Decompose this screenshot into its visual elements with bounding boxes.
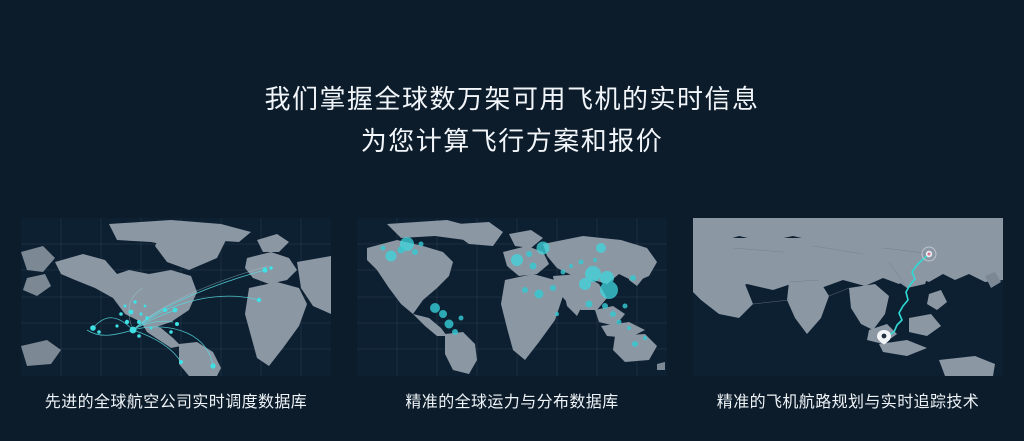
panel-caption: 先进的全球航空公司实时调度数据库 xyxy=(21,392,331,414)
panel-airline-schedule-db[interactable]: 先进的全球航空公司实时调度数据库 xyxy=(21,218,331,414)
panel-caption: 精准的全球运力与分布数据库 xyxy=(357,392,667,414)
track-map-svg xyxy=(693,218,1003,376)
panel-caption: 精准的飞机航路规划与实时追踪技术 xyxy=(693,392,1003,414)
world-map-routes-icon[interactable] xyxy=(21,218,331,376)
routes-map-svg xyxy=(21,218,331,376)
headline-line-1: 我们掌握全球数万架可用飞机的实时信息 xyxy=(0,78,1024,120)
asia-map-track-icon[interactable] xyxy=(693,218,1003,376)
bubbles-map-svg xyxy=(357,218,667,376)
world-map-bubbles-icon[interactable] xyxy=(357,218,667,376)
destination-core-icon xyxy=(928,253,931,256)
panel-capacity-distribution-db[interactable]: 精准的全球运力与分布数据库 xyxy=(357,218,667,414)
page-headline: 我们掌握全球数万架可用飞机的实时信息 为您计算飞行方案和报价 xyxy=(0,78,1024,162)
panel-route-planning-tracking[interactable]: 精准的飞机航路规划与实时追踪技术 xyxy=(693,218,1003,414)
headline-line-2: 为您计算飞行方案和报价 xyxy=(0,120,1024,162)
feature-panels: 先进的全球航空公司实时调度数据库 xyxy=(21,218,1003,414)
